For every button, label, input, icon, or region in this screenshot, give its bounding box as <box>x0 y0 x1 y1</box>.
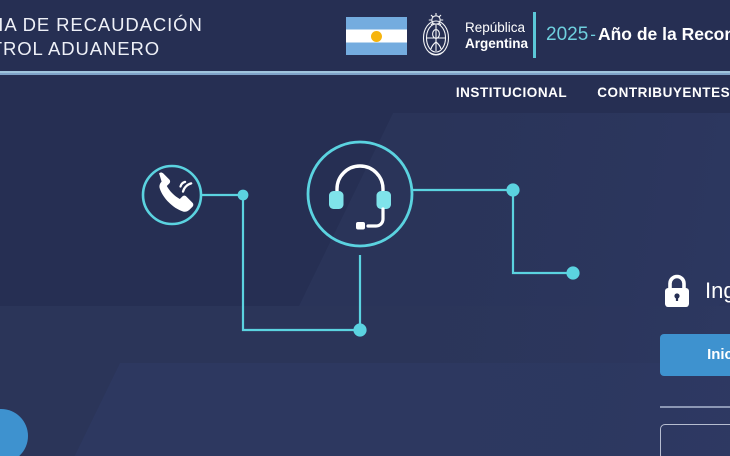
login-title: Ingresar <box>705 278 730 304</box>
argentina-coat-of-arms-icon <box>416 12 456 60</box>
brand-line-1: AGENCIA DE RECAUDACIÓN <box>0 13 203 37</box>
year-dash: - <box>588 25 598 44</box>
header-bottom-rule <box>0 71 730 75</box>
nav-item-list: INSTITUCIONAL CONTRIBUYENTES ADUANA <box>456 85 730 100</box>
brand-line-2: Y CONTROL ADUANERO <box>0 37 203 61</box>
login-header: Ingresar <box>660 268 730 314</box>
nav-item-institucional[interactable]: INSTITUCIONAL <box>456 85 567 100</box>
page-root: AGENCIA DE RECAUDACIÓN Y CONTROL ADUANER… <box>0 0 730 456</box>
circuit-node <box>353 323 366 336</box>
circuit-decoration <box>0 113 730 456</box>
lock-icon <box>660 271 694 311</box>
circuit-node <box>238 190 249 201</box>
gov-line-1: República <box>465 20 528 36</box>
login-panel: Ingresar Iniciar sesión <box>660 268 730 456</box>
username-input[interactable] <box>660 424 730 456</box>
arca-brand-logo[interactable]: AGENCIA DE RECAUDACIÓN Y CONTROL ADUANER… <box>0 13 203 61</box>
year-slogan: 2025-Año de la Reconstrucción de la Naci… <box>546 20 730 50</box>
nav-item-contribuyentes[interactable]: CONTRIBUYENTES <box>597 85 730 100</box>
login-divider <box>660 406 730 408</box>
circuit-node <box>566 266 579 279</box>
government-label: República Argentina <box>465 20 528 52</box>
login-submit-button[interactable]: Iniciar sesión <box>660 334 730 376</box>
header-vertical-divider <box>533 12 536 58</box>
slogan-label: Año de la Reconstrucción de la Nación Ar… <box>598 24 730 44</box>
main-navigation: INSTITUCIONAL CONTRIBUYENTES ADUANA <box>0 75 730 113</box>
gov-line-2: Argentina <box>465 36 528 52</box>
year-label: 2025 <box>546 24 588 45</box>
circuit-node <box>506 183 519 196</box>
government-identity-block: República Argentina <box>346 8 528 64</box>
headset-icon <box>329 166 391 230</box>
header-rule-highlight <box>0 71 730 73</box>
argentina-flag-icon <box>346 17 407 55</box>
sun-of-may-icon <box>371 31 382 42</box>
phone-ringing-icon <box>159 172 193 211</box>
hero-section: Canales para atención de reclamos o suge… <box>0 113 730 456</box>
site-header: AGENCIA DE RECAUDACIÓN Y CONTROL ADUANER… <box>0 0 730 71</box>
